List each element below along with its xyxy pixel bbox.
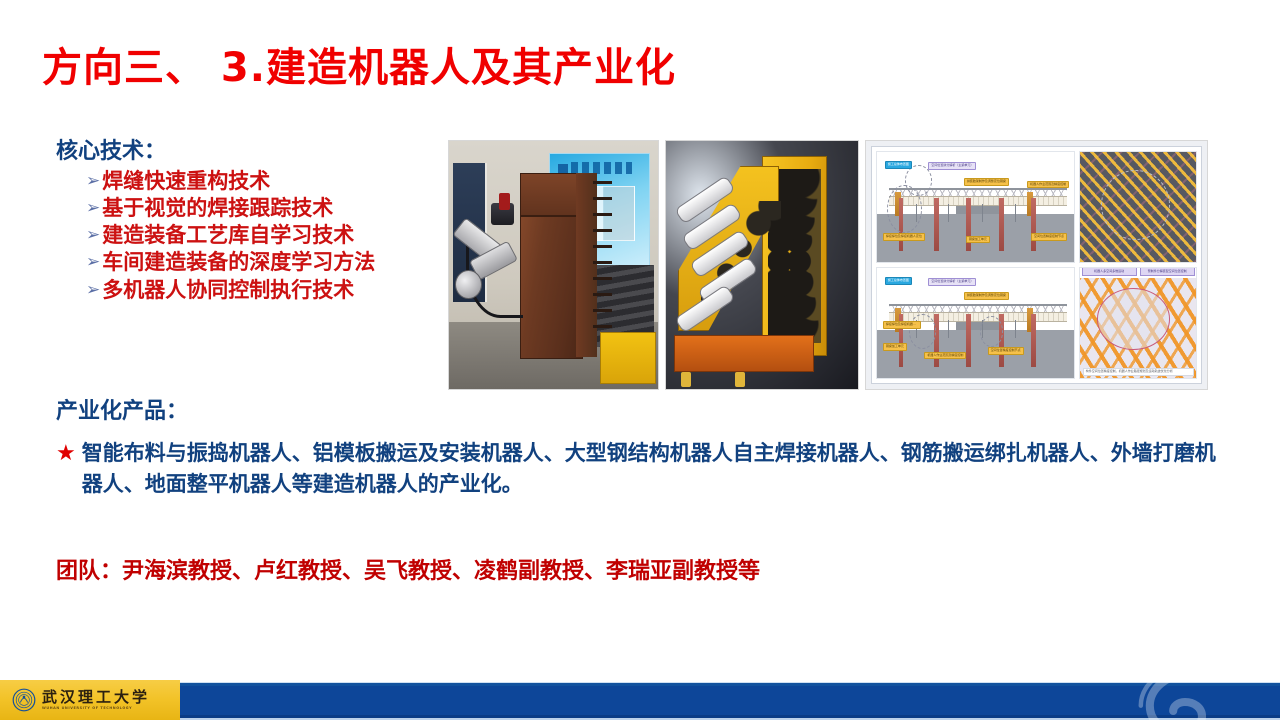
bim-3d-render-detail (1080, 278, 1196, 378)
list-item-label: 多机器人协同控制执行技术 (102, 277, 354, 304)
bim-3d-view-top (1079, 151, 1197, 263)
bim-label-purple: 空间位置拼分解析（主梁单元） (928, 278, 976, 286)
university-emblem-icon (12, 688, 36, 712)
bim-label-orange: 拼装胎架制作及调整定位钢梁 (964, 292, 1009, 300)
photo-steel-column (520, 173, 583, 359)
bim-row-top: 施工总体布置图 空间位置拼分解析（主梁单元） 拼装胎架制作及调整定位钢梁 机器人… (876, 151, 1197, 263)
list-item: ➢ 焊缝快速重构技术 (86, 168, 436, 195)
arrow-bullet-icon: ➢ (86, 222, 100, 248)
products-section: 产业化产品： ★ 智能布料与振捣机器人、铝模板搬运及安装机器人、大型钢结构机器人… (56, 398, 1216, 501)
arrow-bullet-icon: ➢ (86, 195, 100, 221)
bim-chip-left: 机器人多空间多维运动 (1082, 267, 1137, 276)
bim-label-cyan: 施工总体布置图 (885, 277, 912, 285)
bim-3d-render (1080, 152, 1196, 262)
list-item-label: 建造装备工艺库自学习技术 (102, 222, 354, 249)
bim-pile (966, 198, 971, 251)
page-title: 方向三、 3.建造机器人及其产业化 (42, 46, 676, 90)
products-text: 智能布料与振捣机器人、铝模板搬运及安装机器人、大型钢结构机器人自主焊接机器人、钢… (82, 438, 1216, 502)
photo-yellow-machine (600, 332, 656, 384)
bim-pile (1031, 314, 1036, 367)
star-bullet-icon: ★ (56, 438, 76, 471)
bim-pile (999, 198, 1004, 251)
bim-ground (877, 330, 1074, 378)
core-technology-section: 核心技术： ➢ 焊缝快速重构技术 ➢ 基于视觉的焊接跟踪技术 ➢ 建造装备工艺库… (56, 138, 436, 304)
footer-swirl-icon (1130, 682, 1220, 720)
list-item-label: 焊缝快速重构技术 (102, 168, 270, 195)
list-item: ➢ 建造装备工艺库自学习技术 (86, 222, 436, 249)
bim-panel-inner: 施工总体布置图 空间位置拼分解析（主梁单元） 拼装胎架制作及调整定位钢梁 机器人… (871, 146, 1202, 384)
footer-bar (180, 682, 1280, 720)
bim-highlight-circle (909, 314, 937, 349)
footer: 武汉理工大学 WUHAN UNIVERSITY OF TECHNOLOGY (0, 680, 1280, 720)
bim-pile (966, 314, 971, 367)
university-logo: 武汉理工大学 WUHAN UNIVERSITY OF TECHNOLOGY (0, 680, 180, 720)
bim-label-orange: 机器人作业范围及精度控制 (924, 352, 966, 360)
bim-render-caption: 构件空间位置精度控制，机器人作业路径规划及运动轨迹优化分析 (1083, 368, 1194, 376)
bim-label-orange: 空间位置精度控制节点 (1031, 233, 1067, 241)
bim-label-orange: 拼装胎架制作及调整定位钢梁 (964, 178, 1009, 186)
banner-text (571, 162, 632, 173)
bim-highlight-circle (905, 165, 933, 196)
fixture-base (674, 335, 814, 372)
fixture-foot (735, 372, 745, 387)
bim-row-bottom: 施工总体布置图 空间位置拼分解析（主梁单元） 拼装胎架制作及调整定位钢梁 焊接焊… (876, 267, 1197, 379)
welding-robot-photo (448, 140, 659, 390)
bim-elevation-diagram-2: 施工总体布置图 空间位置拼分解析（主梁单元） 拼装胎架制作及调整定位钢梁 焊接焊… (876, 267, 1075, 379)
list-item: ➢ 基于视觉的焊接跟踪技术 (86, 195, 436, 222)
fixture-foot (681, 372, 691, 387)
bim-label-orange: 机器人作业范围及精度控制 (1027, 181, 1069, 189)
bim-chip-row: 机器人多空间多维运动 预制件分解装配空间位置控制 (1080, 267, 1196, 276)
arrow-bullet-icon: ➢ (86, 277, 100, 303)
bim-label-cyan: 施工总体布置图 (885, 161, 912, 169)
bim-hanger (982, 204, 983, 223)
list-item-label: 基于视觉的焊接跟踪技术 (102, 195, 333, 222)
bim-pile (1031, 198, 1036, 251)
bim-pile (934, 314, 939, 367)
bim-label-orange: 焊接焊位及焊接机器人定位 (883, 233, 925, 241)
bim-label-purple: 空间位置拼分解析（主梁单元） (928, 162, 976, 170)
university-wordmark: 武汉理工大学 WUHAN UNIVERSITY OF TECHNOLOGY (42, 690, 150, 710)
arrow-bullet-icon: ➢ (86, 249, 100, 275)
bim-3d-view-bottom: 机器人多空间多维运动 预制件分解装配空间位置控制 构件空间位置精度控制，机器人作… (1079, 267, 1197, 379)
bim-diagram-panel: 施工总体布置图 空间位置拼分解析（主梁单元） 拼装胎架制作及调整定位钢梁 机器人… (865, 140, 1208, 390)
products-body: ★ 智能布料与振捣机器人、铝模板搬运及安装机器人、大型钢结构机器人自主焊接机器人… (56, 438, 1216, 502)
list-item: ➢ 车间建造装备的深度学习方法 (86, 249, 436, 276)
image-strip: 施工总体布置图 空间位置拼分解析（主梁单元） 拼装胎架制作及调整定位钢梁 机器人… (448, 140, 1208, 390)
photo-bolt-row (593, 181, 612, 335)
bim-label-orange: 空间位置精度控制节点 (988, 347, 1024, 355)
bim-hanger (948, 320, 949, 339)
bim-hanger (1015, 204, 1016, 223)
bim-highlight-circle (980, 316, 1004, 347)
bim-label-orange: 钢梁加工单元 (883, 343, 907, 351)
arrow-bullet-icon: ➢ (86, 168, 100, 194)
bim-label-orange: 钢梁加工单元 (966, 236, 990, 244)
bim-pile (934, 198, 939, 251)
welding-fixture-photo (665, 140, 859, 390)
bim-chip-right: 预制件分解装配空间位置控制 (1140, 267, 1195, 276)
team-line: 团队：尹海滨教授、卢红教授、吴飞教授、凌鹤副教授、李瑞亚副教授等 (56, 558, 760, 587)
bim-hanger (948, 204, 949, 223)
university-name-en: WUHAN UNIVERSITY OF TECHNOLOGY (42, 707, 150, 710)
bim-elevation-diagram: 施工总体布置图 空间位置拼分解析（主梁单元） 拼装胎架制作及调整定位钢梁 机器人… (876, 151, 1075, 263)
core-technology-heading: 核心技术： (56, 138, 436, 166)
university-name-cn: 武汉理工大学 (42, 690, 150, 705)
products-heading: 产业化产品： (56, 398, 1216, 426)
bim-hanger (1015, 320, 1016, 339)
welding-torch (499, 193, 509, 210)
list-item-label: 车间建造装备的深度学习方法 (102, 249, 375, 276)
bim-label-orange: 焊接焊位及焊接机器人定位 (883, 321, 921, 329)
core-technology-list: ➢ 焊缝快速重构技术 ➢ 基于视觉的焊接跟踪技术 ➢ 建造装备工艺库自学习技术 … (56, 168, 436, 304)
list-item: ➢ 多机器人协同控制执行技术 (86, 277, 436, 304)
slide-root: 方向三、 3.建造机器人及其产业化 核心技术： ➢ 焊缝快速重构技术 ➢ 基于视… (0, 0, 1280, 720)
